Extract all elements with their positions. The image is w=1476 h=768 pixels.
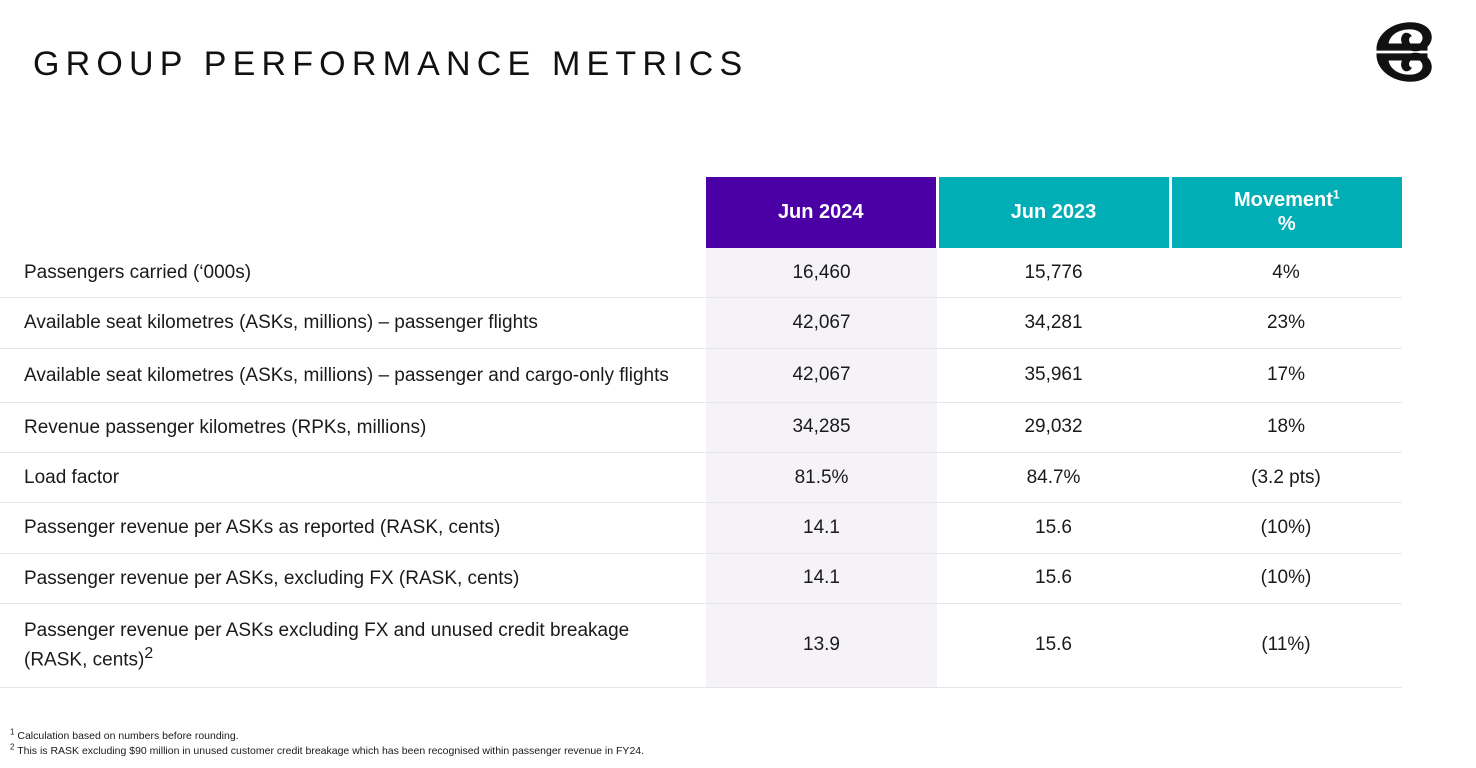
header-jun-2023: Jun 2023 bbox=[937, 177, 1170, 248]
cell-jun-2024: 42,067 bbox=[706, 348, 937, 402]
cell-movement: (3.2 pts) bbox=[1170, 453, 1402, 503]
row-label: Passenger revenue per ASKs excluding FX … bbox=[0, 603, 706, 687]
air-new-zealand-koru-logo bbox=[1366, 18, 1438, 86]
cell-jun-2023: 15.6 bbox=[937, 553, 1170, 603]
header-metric-blank bbox=[0, 177, 706, 248]
cell-jun-2023: 15.6 bbox=[937, 603, 1170, 687]
table-body: Passengers carried (‘000s) 16,460 15,776… bbox=[0, 248, 1402, 687]
cell-movement: 23% bbox=[1170, 298, 1402, 348]
cell-movement: 18% bbox=[1170, 402, 1402, 452]
metrics-table-container: Jun 2024 Jun 2023 Movement1% Passengers … bbox=[0, 177, 1476, 688]
header-movement: Movement1% bbox=[1170, 177, 1402, 248]
page-title: GROUP PERFORMANCE METRICS bbox=[33, 45, 748, 84]
cell-jun-2023: 29,032 bbox=[937, 402, 1170, 452]
cell-movement: (10%) bbox=[1170, 503, 1402, 553]
cell-movement: 17% bbox=[1170, 348, 1402, 402]
row-label: Passengers carried (‘000s) bbox=[0, 248, 706, 298]
cell-jun-2024: 14.1 bbox=[706, 503, 937, 553]
footnote-1-text: Calculation based on numbers before roun… bbox=[17, 730, 238, 742]
header-jun-2024: Jun 2024 bbox=[706, 177, 937, 248]
cell-movement: 4% bbox=[1170, 248, 1402, 298]
row-label: Available seat kilometres (ASKs, million… bbox=[0, 298, 706, 348]
footnote-1: 1 Calculation based on numbers before ro… bbox=[10, 729, 644, 744]
footnote-2: 2 This is RASK excluding $90 million in … bbox=[10, 744, 644, 759]
table-row: Revenue passenger kilometres (RPKs, mill… bbox=[0, 402, 1402, 452]
cell-movement: (11%) bbox=[1170, 603, 1402, 687]
cell-movement: (10%) bbox=[1170, 553, 1402, 603]
table-row: Passenger revenue per ASKs excluding FX … bbox=[0, 603, 1402, 687]
row-label: Passenger revenue per ASKs as reported (… bbox=[0, 503, 706, 553]
cell-jun-2023: 34,281 bbox=[937, 298, 1170, 348]
slide-root: GROUP PERFORMANCE METRICS Jun 2024 Jun 2… bbox=[0, 0, 1476, 768]
row-label: Load factor bbox=[0, 453, 706, 503]
footnote-2-marker: 2 bbox=[10, 742, 14, 751]
cell-jun-2024: 16,460 bbox=[706, 248, 937, 298]
table-row: Available seat kilometres (ASKs, million… bbox=[0, 348, 1402, 402]
group-performance-metrics-table: Jun 2024 Jun 2023 Movement1% Passengers … bbox=[0, 177, 1402, 688]
footnote-1-marker: 1 bbox=[10, 728, 14, 737]
header-movement-label: Movement bbox=[1234, 189, 1333, 211]
table-row: Available seat kilometres (ASKs, million… bbox=[0, 298, 1402, 348]
footnote-2-text: This is RASK excluding $90 million in un… bbox=[17, 745, 644, 757]
cell-jun-2023: 15,776 bbox=[937, 248, 1170, 298]
table-row: Passenger revenue per ASKs as reported (… bbox=[0, 503, 1402, 553]
cell-jun-2024: 42,067 bbox=[706, 298, 937, 348]
table-header: Jun 2024 Jun 2023 Movement1% bbox=[0, 177, 1402, 248]
header-movement-unit: % bbox=[1278, 213, 1296, 235]
cell-jun-2024: 34,285 bbox=[706, 402, 937, 452]
table-header-row: Jun 2024 Jun 2023 Movement1% bbox=[0, 177, 1402, 248]
table-row: Load factor 81.5% 84.7% (3.2 pts) bbox=[0, 453, 1402, 503]
table-row: Passengers carried (‘000s) 16,460 15,776… bbox=[0, 248, 1402, 298]
row-label-text: Passenger revenue per ASKs excluding FX … bbox=[24, 620, 629, 671]
row-label: Available seat kilometres (ASKs, million… bbox=[0, 348, 706, 402]
row-label-footnote-marker: 2 bbox=[144, 645, 153, 662]
table-row: Passenger revenue per ASKs, excluding FX… bbox=[0, 553, 1402, 603]
header-jun-2023-label: Jun 2023 bbox=[1011, 201, 1097, 223]
cell-jun-2023: 15.6 bbox=[937, 503, 1170, 553]
row-label: Revenue passenger kilometres (RPKs, mill… bbox=[0, 402, 706, 452]
row-label: Passenger revenue per ASKs, excluding FX… bbox=[0, 553, 706, 603]
cell-jun-2023: 84.7% bbox=[937, 453, 1170, 503]
header-movement-footnote-marker: 1 bbox=[1333, 187, 1340, 201]
header-jun-2024-label: Jun 2024 bbox=[778, 201, 864, 223]
cell-jun-2024: 81.5% bbox=[706, 453, 937, 503]
cell-jun-2023: 35,961 bbox=[937, 348, 1170, 402]
cell-jun-2024: 14.1 bbox=[706, 553, 937, 603]
cell-jun-2024: 13.9 bbox=[706, 603, 937, 687]
footnotes: 1 Calculation based on numbers before ro… bbox=[10, 729, 644, 759]
